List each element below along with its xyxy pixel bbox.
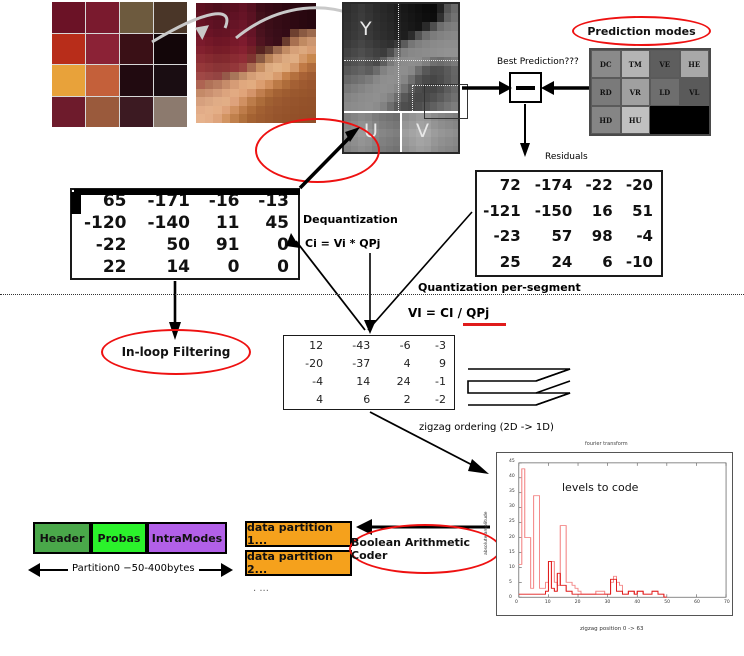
residual-cell: -20 bbox=[621, 172, 661, 198]
chart-y-tick: 5 bbox=[509, 580, 512, 585]
table-row: 22 14 0 0 bbox=[72, 256, 298, 278]
inloop-filtering-label: In-loop Filtering bbox=[103, 331, 249, 373]
pred-mode-rd[interactable]: RD bbox=[591, 78, 621, 106]
data-partition-2-label: data partition 2... bbox=[247, 550, 350, 576]
data-partition-2[interactable]: data partition 2... bbox=[245, 550, 352, 576]
boolean-arithmetic-coder-label: Boolean Arithmetic Coder bbox=[351, 526, 499, 572]
table-row: -4 14 24 -1 bbox=[284, 373, 454, 391]
chart-y-tick: 10 bbox=[509, 565, 515, 570]
chart-y-tick: 20 bbox=[509, 535, 515, 540]
quant-cell: -43 bbox=[331, 336, 378, 354]
chart-x-tick: 60 bbox=[694, 600, 700, 605]
pred-mode-hu-label: HU bbox=[629, 116, 642, 125]
quantized-matrix: 12 -43 -6 -3 -20 -37 4 9 -4 14 24 -1 4 6… bbox=[283, 335, 455, 410]
residual-cell: -150 bbox=[529, 198, 581, 224]
table-row: -23 57 98 -4 bbox=[477, 224, 661, 250]
table-row: 12 -43 -6 -3 bbox=[284, 336, 454, 354]
residual-cell: -174 bbox=[529, 172, 581, 198]
pred-mode-ld[interactable]: LD bbox=[650, 78, 680, 106]
prediction-modes-ellipse: Prediction modes bbox=[572, 16, 711, 46]
table-row: 4 6 2 -2 bbox=[284, 391, 454, 409]
residual-cell: -121 bbox=[477, 198, 529, 224]
zigzag-icon bbox=[466, 365, 576, 413]
residual-cell: -22 bbox=[580, 172, 620, 198]
chart-plot-area bbox=[497, 453, 732, 615]
pred-mode-ve[interactable]: VE bbox=[650, 50, 680, 78]
dequant-cell: -140 bbox=[136, 212, 200, 234]
zigzag-ordering-label: zigzag ordering (2D -> 1D) bbox=[419, 422, 554, 433]
quant-cell: 14 bbox=[331, 373, 378, 391]
macroblock-zoom bbox=[196, 3, 316, 123]
chart-y-tick: 35 bbox=[509, 489, 515, 494]
table-row: -22 50 91 0 bbox=[72, 234, 298, 256]
residual-cell: 72 bbox=[477, 172, 529, 198]
data-partitions-ellipsis: . ... bbox=[253, 583, 269, 594]
quant-cell: -3 bbox=[419, 336, 454, 354]
pred-mode-dc[interactable]: DC bbox=[591, 50, 621, 78]
residual-cell: -10 bbox=[621, 249, 661, 275]
table-row: -120 -140 11 45 bbox=[72, 212, 298, 234]
chart-annotation: levels to code bbox=[562, 481, 638, 494]
pred-mode-vl-label: VL bbox=[689, 88, 699, 97]
dequantization-label: Dequantization bbox=[303, 213, 398, 226]
boolean-arithmetic-coder-ellipse: Boolean Arithmetic Coder bbox=[349, 524, 501, 574]
dequant-cell: -22 bbox=[72, 234, 136, 256]
quant-cell: 12 bbox=[284, 336, 331, 354]
quant-cell: -1 bbox=[419, 373, 454, 391]
pred-mode-he[interactable]: HE bbox=[680, 50, 710, 78]
quant-cell: -37 bbox=[331, 354, 378, 372]
pred-mode-ld-label: LD bbox=[659, 88, 670, 97]
y-subblock-highlight bbox=[424, 84, 468, 119]
quant-cell: 4 bbox=[284, 391, 331, 409]
partition0-probas-block[interactable]: Probas bbox=[91, 522, 147, 554]
v-plane-label: V bbox=[416, 120, 429, 142]
inloop-filtering-ellipse: In-loop Filtering bbox=[101, 329, 251, 375]
partition0-caption: Partition0 −50-400bytes bbox=[68, 563, 199, 574]
table-row: -121 -150 16 51 bbox=[477, 198, 661, 224]
pred-mode-tm[interactable]: TM bbox=[621, 50, 651, 78]
subtract-operator bbox=[509, 72, 542, 103]
data-partition-1[interactable]: data partition 1... bbox=[245, 521, 352, 547]
chart-y-tick: 25 bbox=[509, 519, 515, 524]
uv-highlight-ellipse bbox=[255, 118, 380, 183]
chart-x-tick: 30 bbox=[605, 600, 611, 605]
quant-cell: 9 bbox=[419, 354, 454, 372]
residuals-caption: Residuals bbox=[545, 152, 588, 162]
dequant-cell: -120 bbox=[72, 212, 136, 234]
dequant-cell: 14 bbox=[136, 256, 200, 278]
chart-x-tick: 50 bbox=[664, 600, 670, 605]
pred-mode-hu[interactable]: HU bbox=[621, 106, 651, 134]
quant-cell: -4 bbox=[284, 373, 331, 391]
pred-mode-hd[interactable]: HD bbox=[591, 106, 621, 134]
formula-underline bbox=[463, 323, 506, 326]
source-image-grid bbox=[52, 2, 187, 127]
prediction-modes-grid: DC TM VE HE RD VR LD VL HD HU bbox=[589, 48, 711, 136]
dequantized-matrix: 65 -171 -16 -13 -120 -140 11 45 -22 50 9… bbox=[70, 188, 300, 280]
dequant-cell: 0 bbox=[248, 256, 298, 278]
partition0-intramodes-label: IntraModes bbox=[152, 532, 222, 545]
residual-cell: 98 bbox=[580, 224, 620, 250]
pred-mode-vr-label: VR bbox=[630, 88, 641, 97]
residuals-matrix: 72 -174 -22 -20 -121 -150 16 51 -23 57 9… bbox=[475, 170, 663, 277]
chart-xlabel: zigzag position 0 -> 63 bbox=[580, 626, 644, 632]
quant-cell: -20 bbox=[284, 354, 331, 372]
chart-title: fourier transform bbox=[585, 441, 628, 447]
residual-cell: 51 bbox=[621, 198, 661, 224]
chart-x-tick: 0 bbox=[515, 600, 518, 605]
pred-mode-hd-label: HD bbox=[599, 116, 612, 125]
best-prediction-label: Best Prediction??? bbox=[497, 57, 579, 67]
chart-y-tick: 40 bbox=[509, 474, 515, 479]
pred-mode-ve-label: VE bbox=[659, 60, 670, 69]
pred-mode-he-label: HE bbox=[688, 60, 700, 69]
chart-y-tick: 15 bbox=[509, 550, 515, 555]
prediction-modes-title: Prediction modes bbox=[574, 18, 709, 44]
matrix-top-bar bbox=[74, 189, 300, 195]
partition0-header-label: Header bbox=[40, 532, 85, 545]
quantization-label: Quantization per-segment bbox=[418, 281, 581, 294]
dequantization-formula: Ci = Vi * QPj bbox=[305, 237, 380, 250]
pred-mode-tm-label: TM bbox=[629, 60, 642, 69]
pred-mode-vr[interactable]: VR bbox=[621, 78, 651, 106]
dequant-cell: 11 bbox=[199, 212, 248, 234]
quant-cell: 2 bbox=[378, 391, 418, 409]
chart-x-tick: 20 bbox=[575, 600, 581, 605]
dequant-cell: 0 bbox=[199, 256, 248, 278]
pred-mode-empty bbox=[650, 106, 709, 134]
residual-cell: 6 bbox=[580, 249, 620, 275]
table-row: 72 -174 -22 -20 bbox=[477, 172, 661, 198]
quant-cell: -2 bbox=[419, 391, 454, 409]
chart-y-tick: 0 bbox=[509, 595, 512, 600]
matrix-left-bar bbox=[71, 192, 81, 214]
chart-ylabel: absolute amplitude bbox=[484, 511, 489, 555]
table-row: -20 -37 4 9 bbox=[284, 354, 454, 372]
residual-cell: -23 bbox=[477, 224, 529, 250]
dequant-cell: 91 bbox=[199, 234, 248, 256]
quantization-formula: VI = CI / QPj bbox=[408, 306, 489, 320]
y-split-vertical bbox=[398, 4, 399, 111]
pipeline-separator bbox=[0, 294, 744, 295]
chart-x-tick: 40 bbox=[634, 600, 640, 605]
residual-cell: 16 bbox=[580, 198, 620, 224]
chart-x-tick: 70 bbox=[724, 600, 730, 605]
dequant-cell: 22 bbox=[72, 256, 136, 278]
table-row: 25 24 6 -10 bbox=[477, 249, 661, 275]
chart-y-tick: 45 bbox=[509, 459, 515, 464]
y-subblock-guide-v bbox=[412, 85, 413, 110]
residual-cell: 57 bbox=[529, 224, 581, 250]
y-plane-label: Y bbox=[360, 18, 372, 40]
partition0-probas-label: Probas bbox=[98, 532, 141, 545]
residual-cell: -4 bbox=[621, 224, 661, 250]
chart-x-tick: 10 bbox=[545, 600, 551, 605]
quant-cell: 6 bbox=[331, 391, 378, 409]
pred-mode-rd-label: RD bbox=[600, 88, 612, 97]
residual-cell: 24 bbox=[529, 249, 581, 275]
quant-cell: -6 bbox=[378, 336, 418, 354]
quant-cell: 24 bbox=[378, 373, 418, 391]
pred-mode-dc-label: DC bbox=[600, 60, 612, 69]
partition0-header-block[interactable]: Header bbox=[33, 522, 91, 554]
residual-cell: 25 bbox=[477, 249, 529, 275]
dequant-cell: 0 bbox=[248, 234, 298, 256]
chart-y-tick: 30 bbox=[509, 504, 515, 509]
data-partition-1-label: data partition 1... bbox=[247, 521, 350, 547]
dequant-cell: 45 bbox=[248, 212, 298, 234]
y-split-horizontal bbox=[344, 60, 458, 61]
levels-chart bbox=[496, 452, 733, 616]
pred-mode-vl[interactable]: VL bbox=[680, 78, 710, 106]
partition0-intramodes-block[interactable]: IntraModes bbox=[147, 522, 227, 554]
dequant-cell: 50 bbox=[136, 234, 200, 256]
quant-cell: 4 bbox=[378, 354, 418, 372]
